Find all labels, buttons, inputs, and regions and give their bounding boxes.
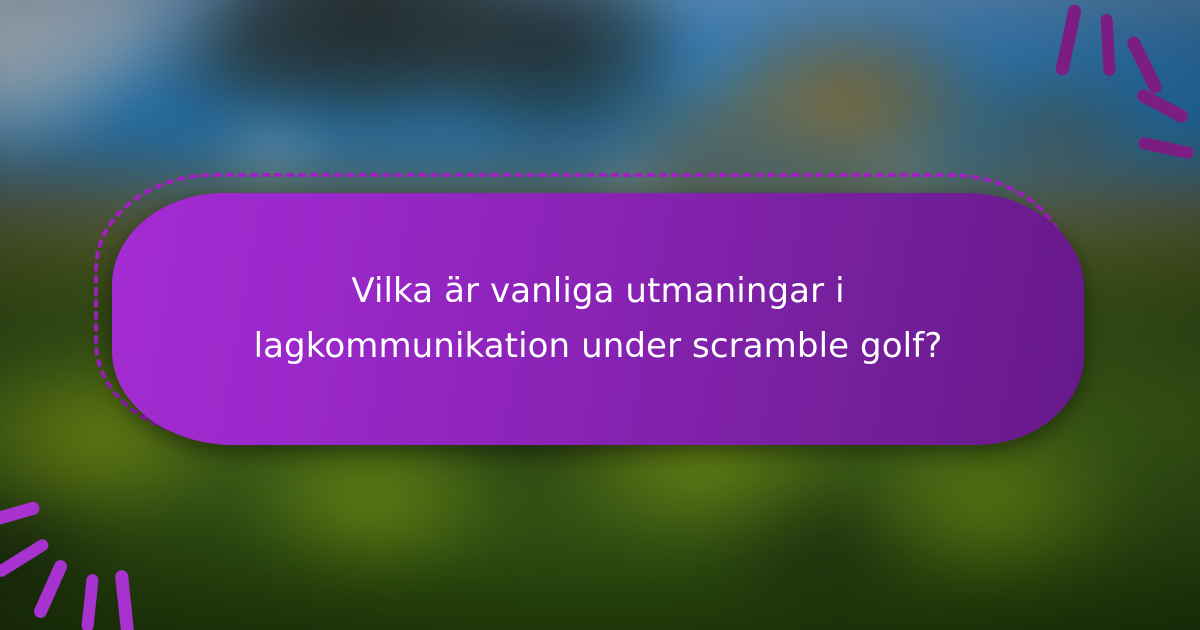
sparkle-dash-1 xyxy=(0,500,41,531)
question-card: Vilka är vanliga utmaningar i lagkommuni… xyxy=(104,183,1080,448)
sparkle-dash-1 xyxy=(1055,3,1083,76)
sparkle-dash-4 xyxy=(1135,87,1191,125)
card-surface: Vilka är vanliga utmaningar i lagkommuni… xyxy=(112,193,1084,445)
question-text: Vilka är vanliga utmaningar i lagkommuni… xyxy=(228,264,968,374)
sparkle-dash-5 xyxy=(115,570,135,630)
sparkle-dash-3 xyxy=(1125,34,1164,95)
sparkle-dash-3 xyxy=(32,558,69,620)
sparkle-dash-4 xyxy=(81,574,99,630)
sparkle-dash-2 xyxy=(0,537,51,579)
sparkle-burst-icon-bottom-left xyxy=(0,470,190,630)
sparkle-dash-2 xyxy=(1100,14,1115,77)
sparkle-burst-icon-top-right xyxy=(1040,0,1200,150)
social-card-canvas: Vilka är vanliga utmaningar i lagkommuni… xyxy=(0,0,1200,630)
